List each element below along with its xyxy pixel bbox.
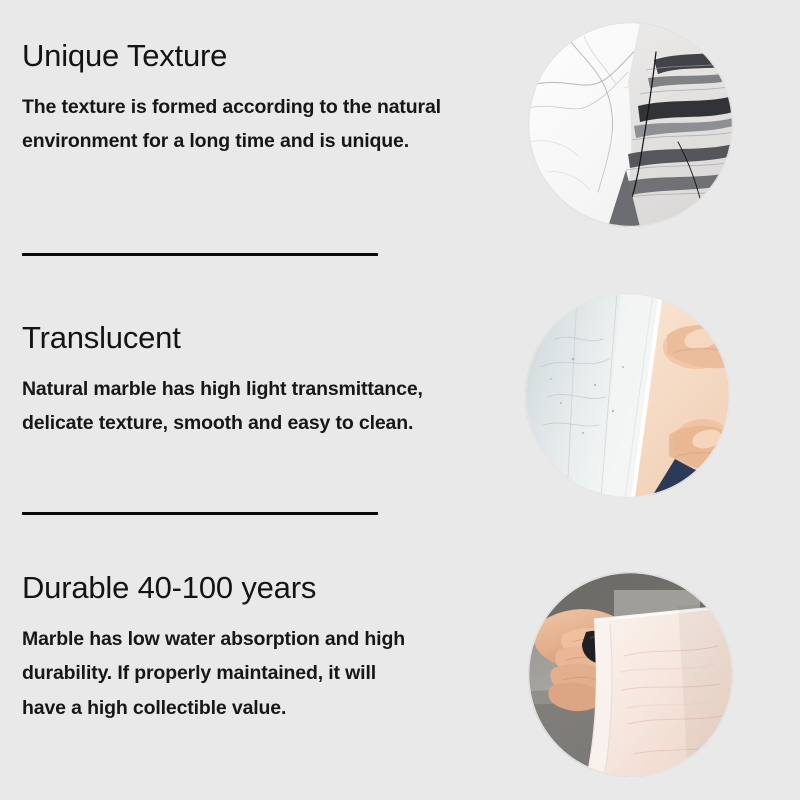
feature-section-translucent: Translucent Natural marble has high ligh…	[0, 275, 800, 520]
feature-section-unique-texture: Unique Texture The texture is formed acc…	[0, 0, 800, 265]
feature-description-line: environment for a long time and is uniqu…	[22, 124, 527, 159]
feature-section-durable: Durable 40-100 years Marble has low wate…	[0, 535, 800, 800]
divider-after-unique-texture	[22, 253, 378, 256]
feature-description: Marble has low water absorption and high…	[22, 622, 527, 726]
translucent-photo	[525, 293, 730, 498]
feature-title: Translucent	[22, 320, 527, 356]
feature-description-line: delicate texture, smooth and easy to cle…	[22, 406, 527, 441]
feature-description: The texture is formed according to the n…	[22, 90, 527, 159]
feature-description-line: Marble has low water absorption and high	[22, 622, 527, 657]
unique-texture-photo	[528, 22, 733, 227]
marble-features-infographic: Unique Texture The texture is formed acc…	[0, 0, 800, 800]
feature-description-line: have a high collectible value.	[22, 691, 527, 726]
feature-title: Durable 40-100 years	[22, 570, 527, 606]
feature-text-block: Unique Texture The texture is formed acc…	[22, 38, 527, 159]
feature-text-block: Durable 40-100 years Marble has low wate…	[22, 570, 527, 726]
divider-after-translucent	[22, 512, 378, 515]
feature-description-line: The texture is formed according to the n…	[22, 90, 527, 125]
durable-illustration	[528, 572, 733, 777]
translucent-illustration	[525, 293, 730, 498]
feature-text-block: Translucent Natural marble has high ligh…	[22, 320, 527, 441]
feature-description-line: Natural marble has high light transmitta…	[22, 372, 527, 407]
durable-photo	[528, 572, 733, 777]
feature-description: Natural marble has high light transmitta…	[22, 372, 527, 441]
feature-title: Unique Texture	[22, 38, 527, 74]
unique-texture-illustration	[528, 22, 733, 227]
feature-description-line: durability. If properly maintained, it w…	[22, 656, 527, 691]
